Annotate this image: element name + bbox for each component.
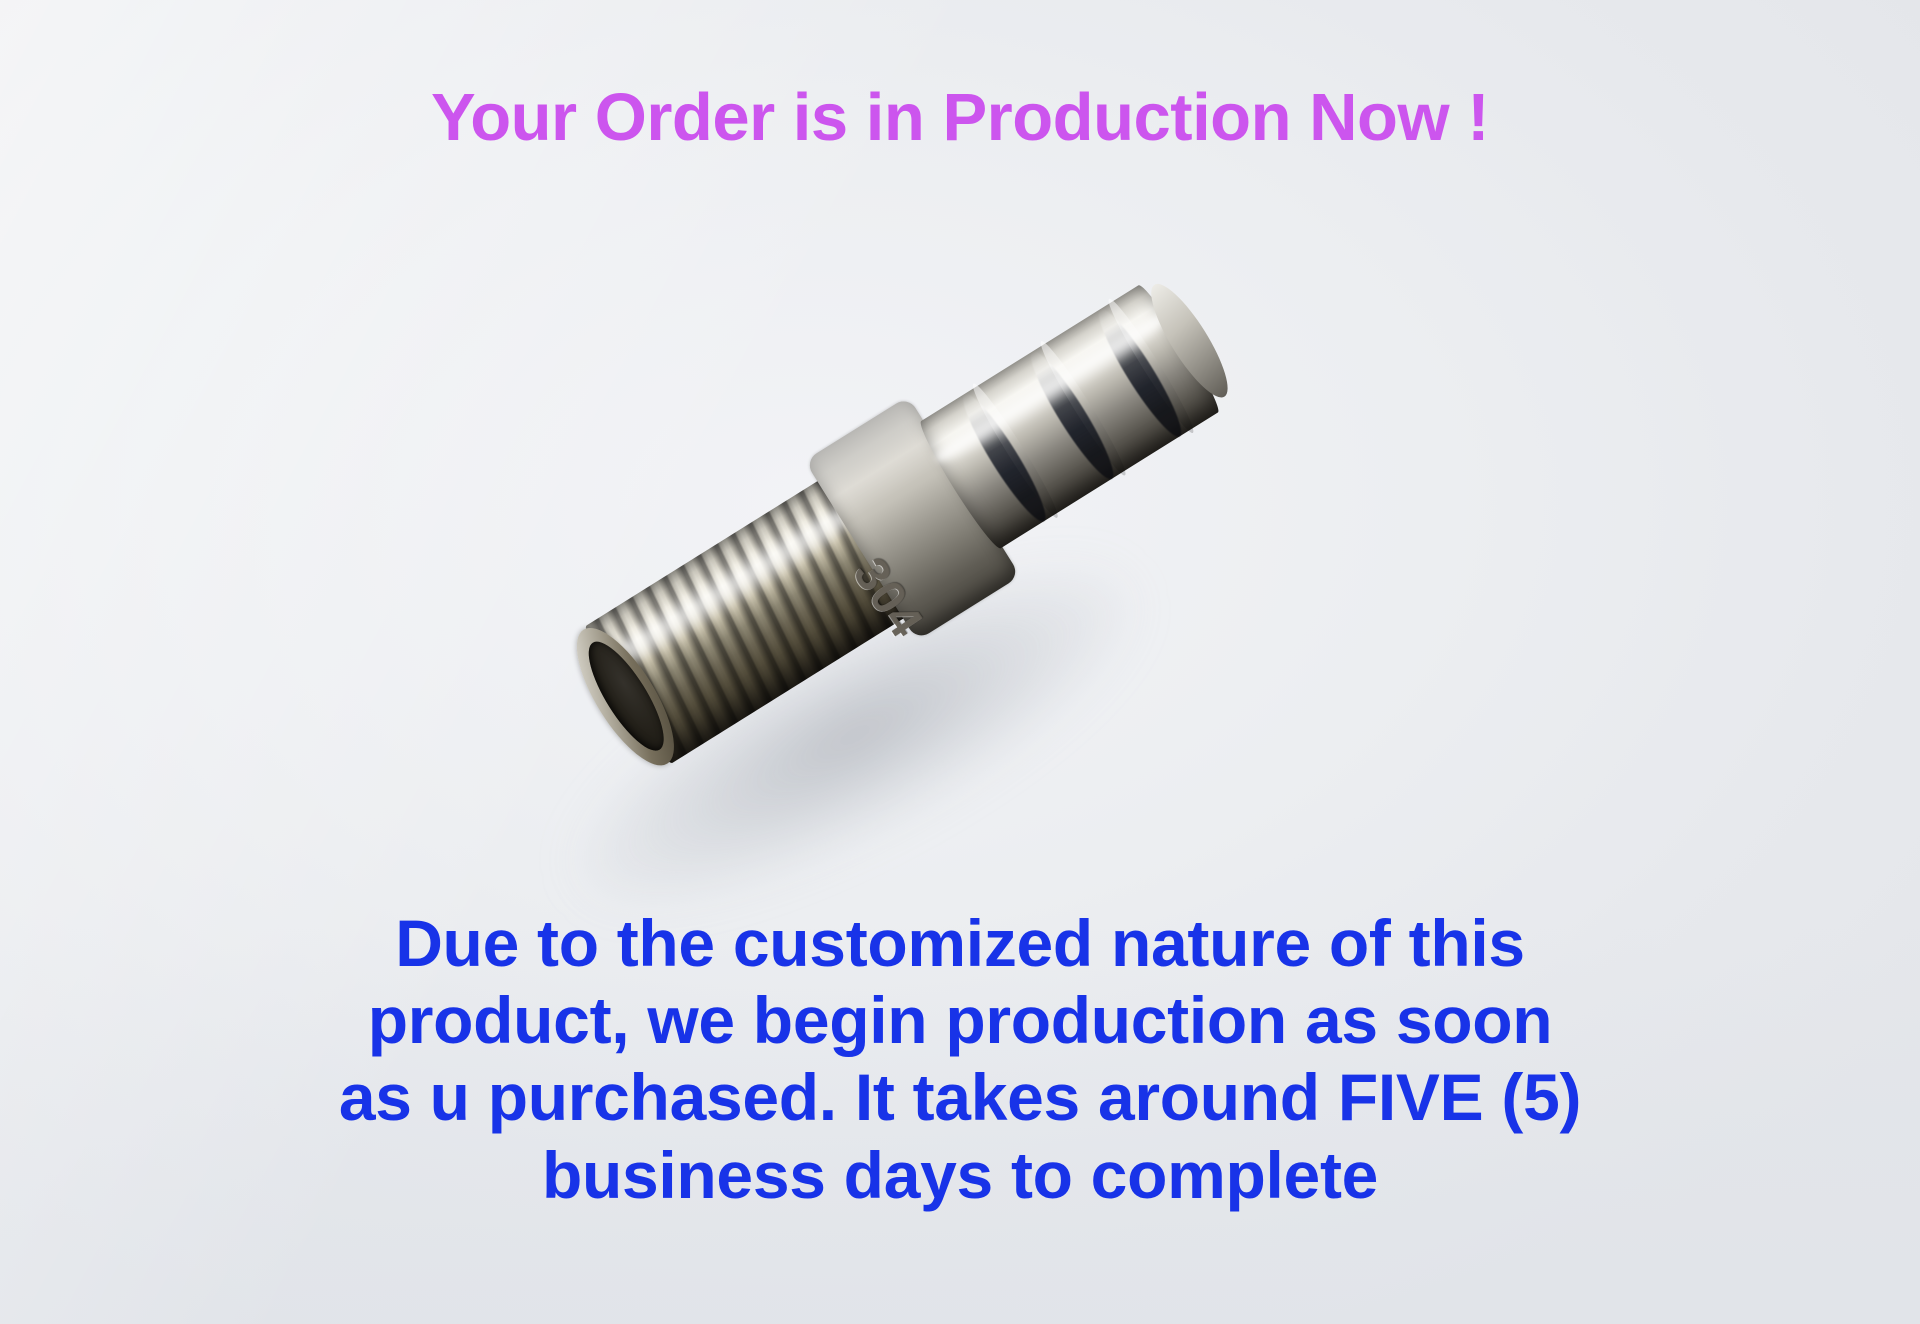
promo-banner: Your Order is in Production Now ! 304	[0, 0, 1920, 1324]
notice-line: product, we begin production as soon	[120, 982, 1800, 1059]
notice-line: business days to complete	[120, 1137, 1800, 1214]
barb-groove	[953, 387, 1055, 528]
page-title: Your Order is in Production Now !	[0, 84, 1920, 151]
production-notice: Due to the customized nature of this pro…	[0, 905, 1920, 1214]
barb-groove	[1021, 345, 1123, 486]
notice-line: as u purchased. It takes around FIVE (5)	[120, 1059, 1800, 1136]
product-photo: 304	[0, 240, 1920, 800]
notice-line: Due to the customized nature of this	[120, 905, 1800, 982]
